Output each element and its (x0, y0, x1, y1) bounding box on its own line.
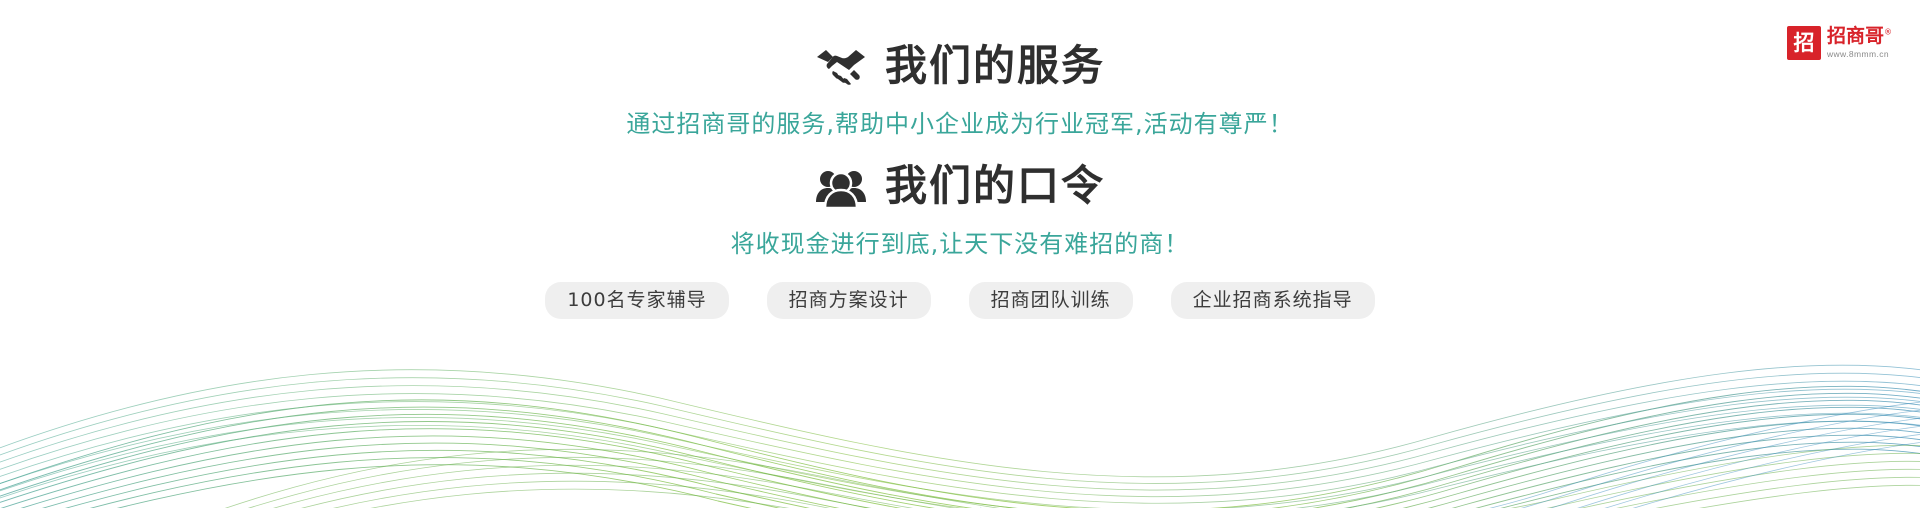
tag-team-training[interactable]: 招商团队训练 (969, 282, 1133, 319)
section-subtitle-services: 通过招商哥的服务,帮助中小企业成为行业冠军,活动有尊严！ (0, 112, 1920, 136)
tag-plan-design[interactable]: 招商方案设计 (767, 282, 931, 319)
section-heading-text: 我们的服务 (885, 45, 1105, 87)
section-subtitle-slogan: 将收现金进行到底,让天下没有难招的商！ (0, 232, 1920, 256)
people-group-icon (815, 164, 867, 208)
banner-content: 我们的服务 通过招商哥的服务,帮助中小企业成为行业冠军,活动有尊严！ 我们的口令… (0, 0, 1920, 319)
section-heading-slogan: 我们的口令 (0, 164, 1920, 208)
service-tag-list: 100名专家辅导 招商方案设计 招商团队训练 企业招商系统指导 (0, 282, 1920, 319)
section-heading-services: 我们的服务 (0, 44, 1920, 88)
promo-banner: 招 招商哥® www.8mmm.cn 我们的服务 通过招 (0, 0, 1920, 508)
tag-expert-coaching[interactable]: 100名专家辅导 (545, 282, 728, 319)
section-heading-text: 我们的口令 (885, 165, 1105, 207)
handshake-icon (815, 44, 867, 88)
tag-system-guidance[interactable]: 企业招商系统指导 (1171, 282, 1375, 319)
